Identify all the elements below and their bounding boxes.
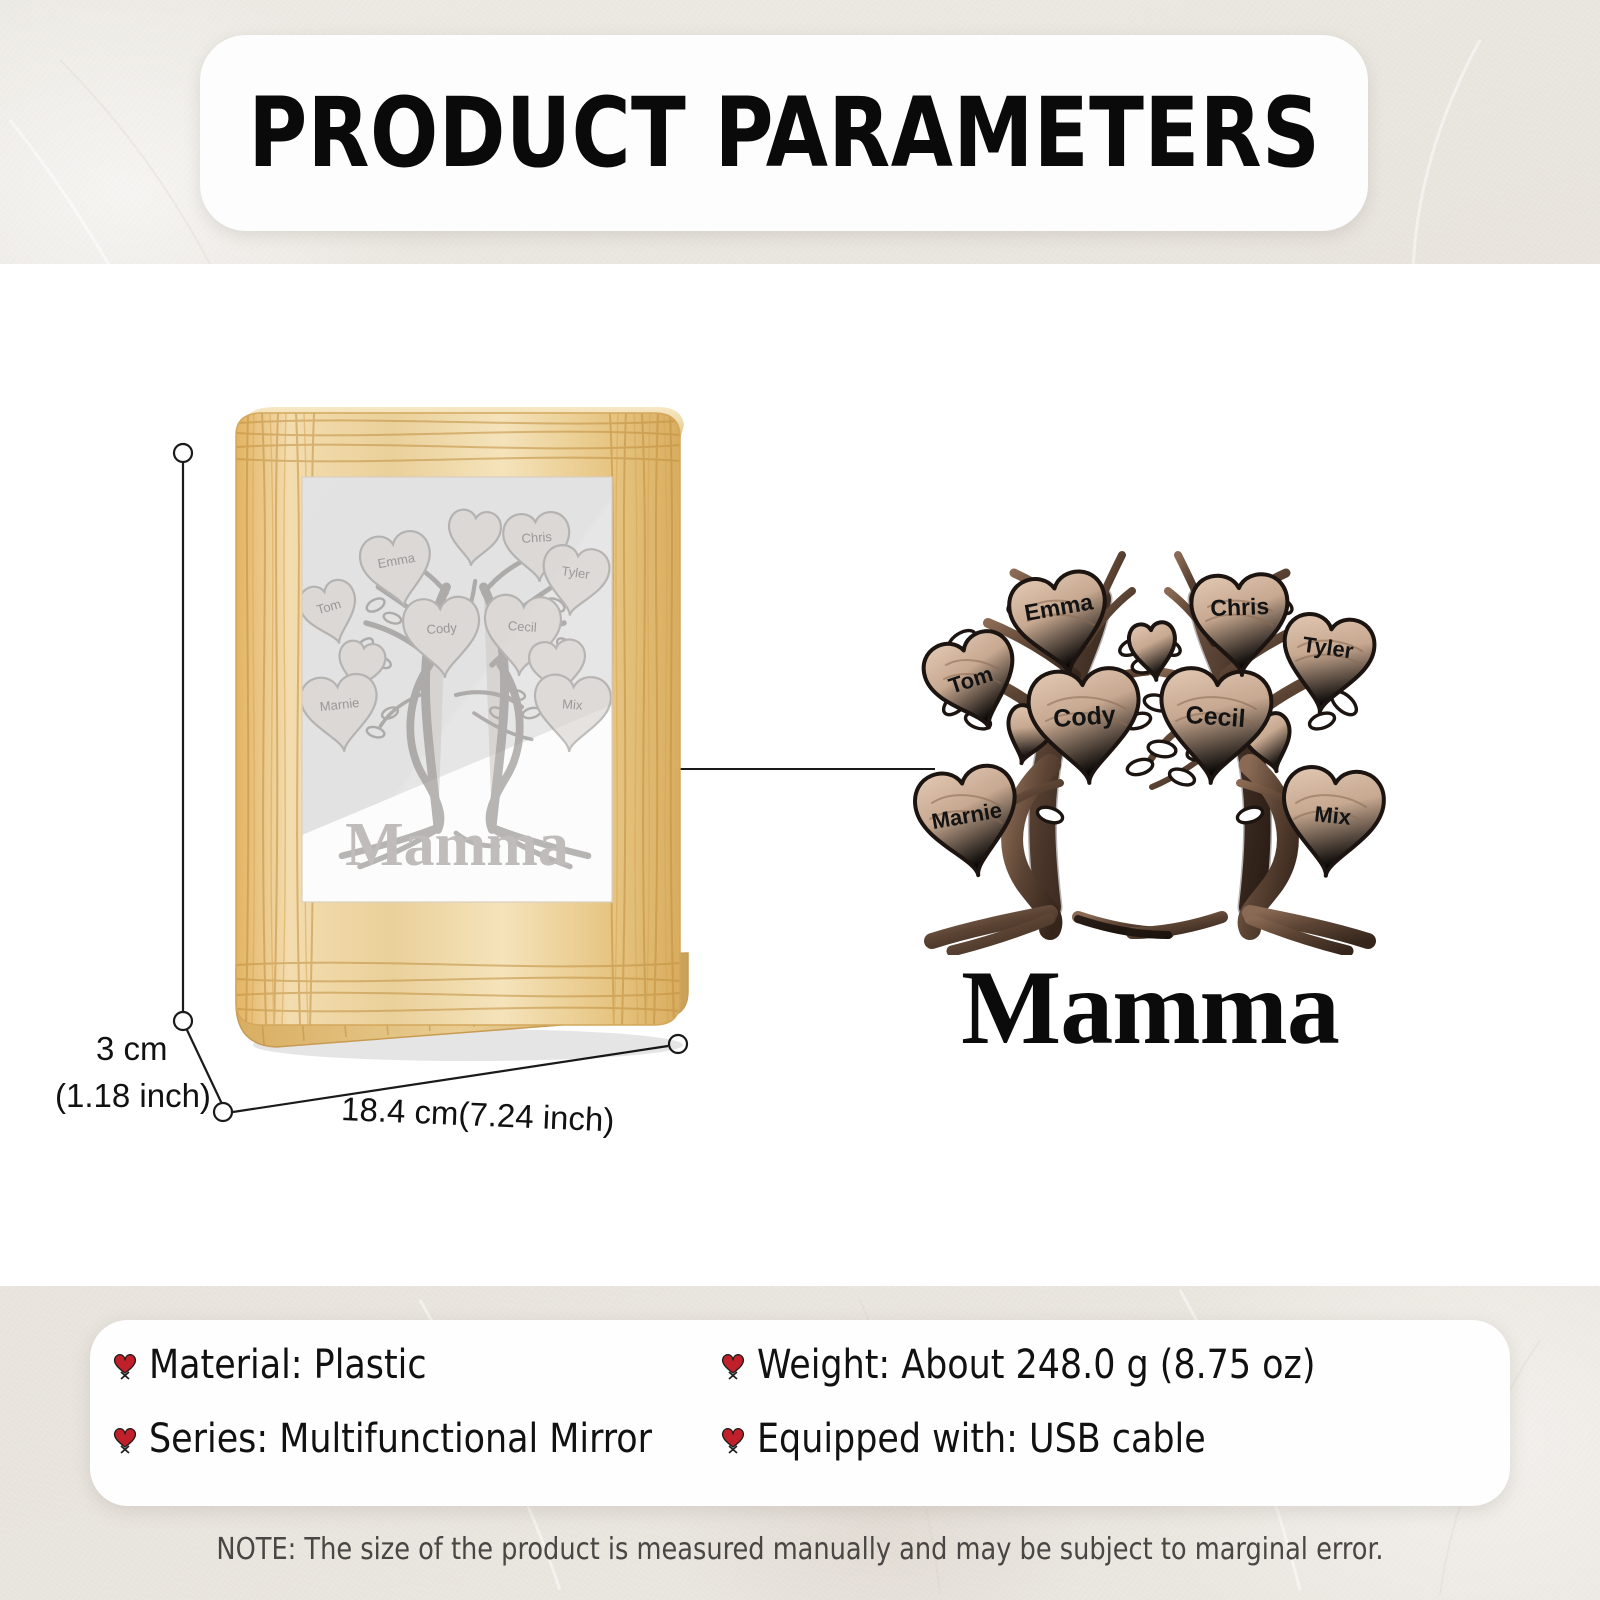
heart-icon <box>720 1350 746 1380</box>
tree-heart-name-cecil: Cecil <box>1185 701 1247 733</box>
mirror-heart-name-chris: Chris <box>521 529 553 546</box>
heart-icon <box>112 1424 138 1454</box>
spec-equipped-label: Equipped with: USB cable <box>757 1416 1206 1462</box>
spec-item-weight: Weight: About 248.0 g (8.75 oz) <box>720 1342 1333 1388</box>
specifications-card: Material: Plastic Weight: About 248.0 g … <box>90 1320 1510 1506</box>
product-engraved-name: Mamma <box>900 955 1400 1061</box>
dimension-depth-label-line2: (1.18 inch) <box>55 1077 211 1115</box>
mirror-engraved-name: Mamma <box>345 811 569 879</box>
spec-material-label: Material: Plastic <box>149 1342 427 1388</box>
spec-item-equipped-with: Equipped with: USB cable <box>720 1416 1220 1462</box>
tree-heart-name-mix: Mix <box>1313 801 1353 830</box>
spec-series-label: Series: Multifunctional Mirror <box>149 1416 652 1462</box>
spec-weight-label: Weight: About 248.0 g (8.75 oz) <box>757 1342 1315 1388</box>
spec-item-series: Series: Multifunctional Mirror <box>112 1416 668 1462</box>
mirror-heart-name-cecil: Cecil <box>507 618 537 635</box>
mirror-heart-name-mix: Mix <box>562 696 584 712</box>
title-card: PRODUCT PARAMETERS <box>200 35 1368 231</box>
spec-item-material: Material: Plastic <box>112 1342 435 1388</box>
dimension-depth-label-line1: 3 cm <box>96 1030 168 1068</box>
mirror-heart-name-cody: Cody <box>426 620 458 637</box>
page-title: PRODUCT PARAMETERS <box>248 85 1320 181</box>
heart-icon <box>720 1424 746 1454</box>
tree-heart-name-cody: Cody <box>1052 701 1116 733</box>
heart-chris <box>1190 573 1289 676</box>
family-tree-illustration: Tom Emma Cody Cecil Chris Tyler Marnie M… <box>900 515 1400 955</box>
product-frame-photo: Tom Emma Cody Cecil Chris Tyler Marnie M… <box>218 405 698 1075</box>
heart-icon <box>112 1350 138 1380</box>
tree-heart-name-chris: Chris <box>1210 593 1270 621</box>
measurement-note: NOTE: The size of the product is measure… <box>40 1532 1560 1567</box>
